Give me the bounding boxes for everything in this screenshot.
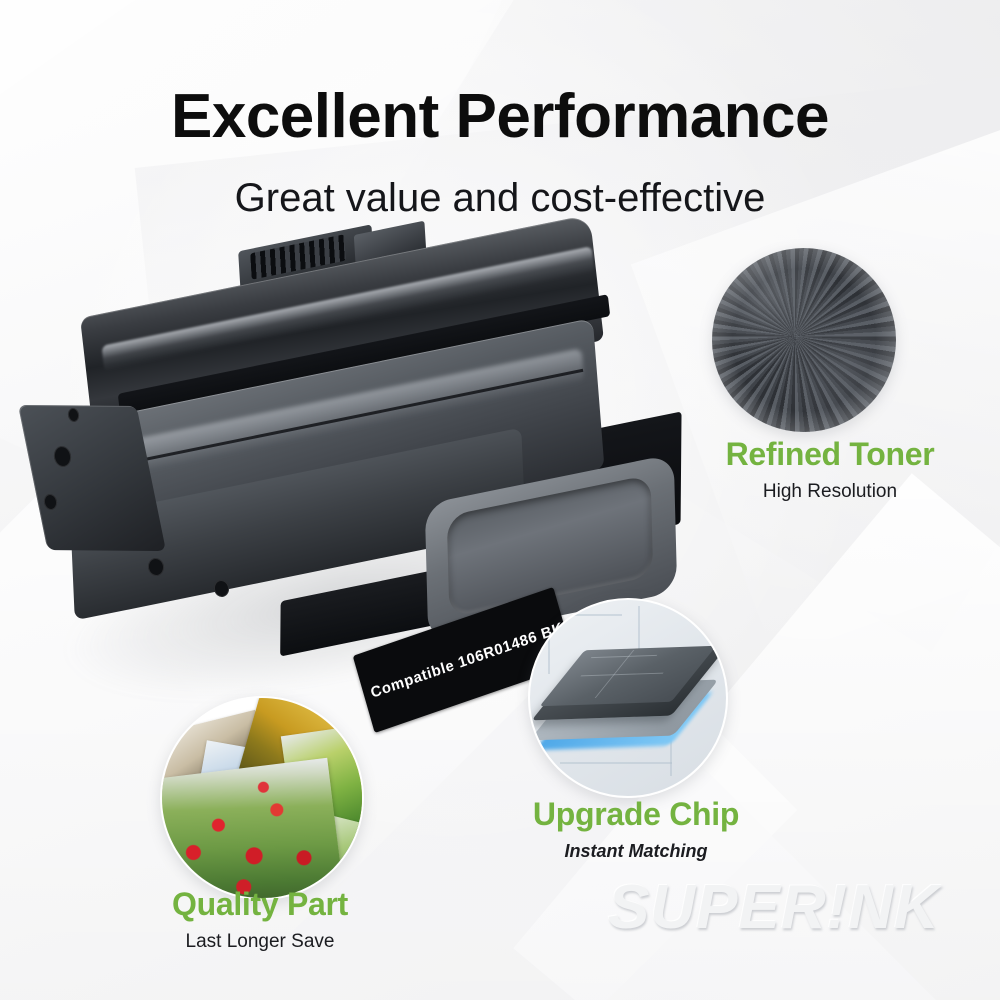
- printed-photo: [160, 758, 344, 900]
- feature-caption-upgrade-chip: Upgrade Chip Instant Matching: [466, 798, 806, 860]
- toner-cartridge-image: Compatible 106R01486 BK: [28, 222, 668, 662]
- feature-title: Quality Part: [90, 888, 430, 922]
- feature-caption-refined-toner: Refined Toner High Resolution: [660, 438, 1000, 502]
- feature-title: Refined Toner: [660, 438, 1000, 472]
- refined-toner-photo: [712, 248, 896, 432]
- promo-banner: Excellent Performance Great value and co…: [0, 0, 1000, 1000]
- feature-subtitle: Instant Matching: [466, 842, 806, 861]
- feature-title: Upgrade Chip: [466, 798, 806, 832]
- page-title: Excellent Performance: [0, 86, 1000, 148]
- chip-background-line: [638, 606, 640, 650]
- chip-background-line: [548, 614, 550, 674]
- quality-part-photo: [160, 696, 364, 900]
- brand-watermark: SUPER!NK: [608, 872, 940, 943]
- upgrade-chip-photo: [528, 598, 728, 798]
- feature-subtitle: Last Longer Save: [90, 932, 430, 952]
- feature-subtitle: High Resolution: [660, 482, 1000, 502]
- chip-background-line: [560, 762, 672, 764]
- page-subtitle: Great value and cost-effective: [0, 178, 1000, 218]
- chip-background-line: [548, 614, 622, 616]
- feature-caption-quality-part: Quality Part Last Longer Save: [90, 888, 430, 952]
